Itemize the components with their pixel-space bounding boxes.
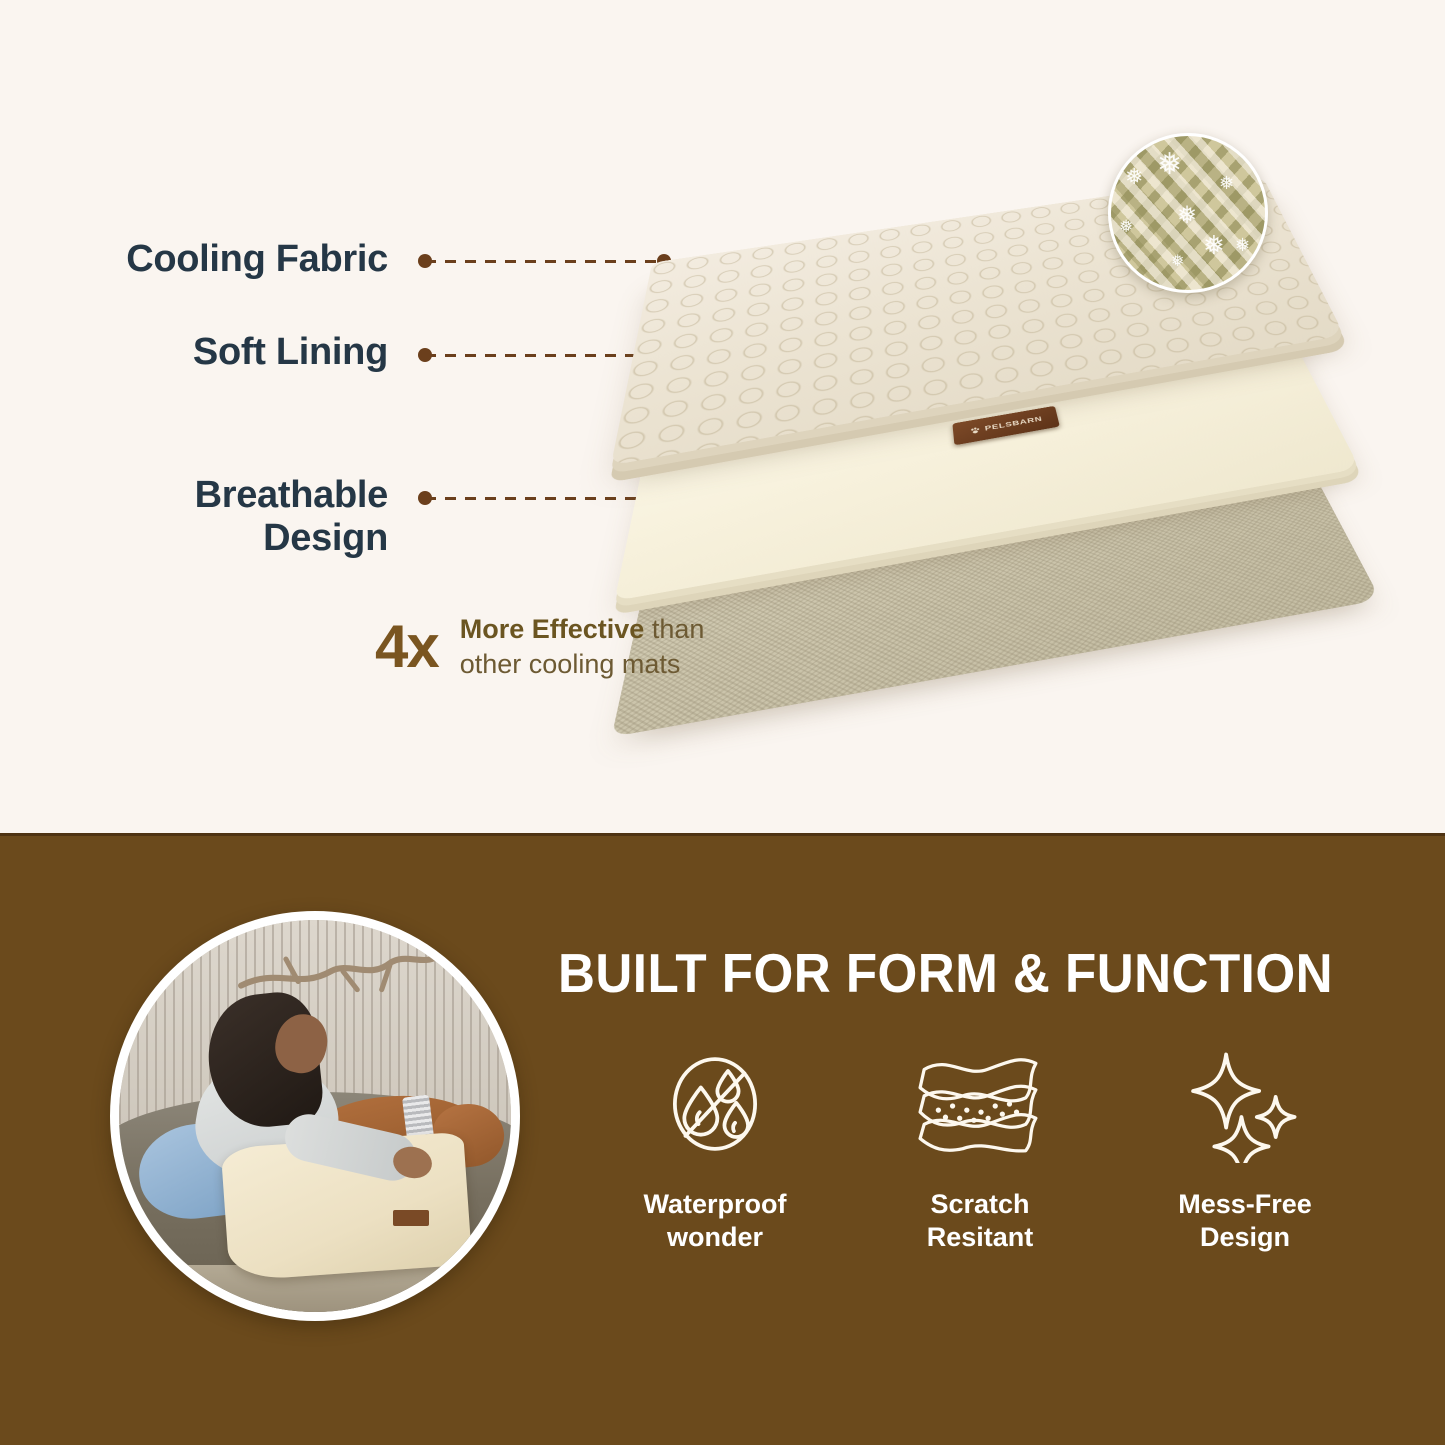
feature-mess-free: Mess-Free Design: [1130, 1041, 1360, 1254]
section-heading: BUILT FOR FORM & FUNCTION: [558, 941, 1333, 1005]
feature-icon-row: Waterproof wonder: [600, 1041, 1360, 1254]
snowflake-icon: ❅: [1171, 254, 1184, 270]
lifestyle-photo-content: [119, 920, 511, 1312]
feature-label-waterproof: Waterproof wonder: [644, 1188, 787, 1254]
snowflake-icon: ❅: [1177, 204, 1197, 228]
exploded-product-layers-illustration: PELSBARN: [590, 120, 1410, 760]
snowflake-icon: ❅: [1235, 236, 1250, 254]
snowflake-icon: ❅: [1157, 150, 1182, 180]
waterproof-droplets-crossed-icon: [656, 1041, 774, 1166]
scratch-resistant-wavy-fabric-icon: [914, 1041, 1046, 1166]
feature-label-waterproof-line2: wonder: [644, 1221, 787, 1254]
snowflake-icon: ❅: [1219, 174, 1234, 192]
photo-mat-brand-tag: [393, 1210, 428, 1226]
fabric-weave-closeup-inset: ❅ ❅ ❅ ❅ ❅ ❅ ❅ ❅: [1108, 133, 1268, 293]
feature-label-mess-free-line1: Mess-Free: [1178, 1188, 1312, 1221]
feature-label-mess-free-line2: Design: [1178, 1221, 1312, 1254]
snowflake-icon: ❅: [1203, 232, 1225, 258]
mess-free-sparkles-icon: [1186, 1041, 1304, 1166]
claim-strong-text: More Effective: [460, 614, 645, 644]
claim-rest-text: than: [644, 614, 704, 644]
feature-label-mess-free: Mess-Free Design: [1178, 1188, 1312, 1254]
feature-label-waterproof-line1: Waterproof: [644, 1188, 787, 1221]
feature-label-cooling-fabric: Cooling Fabric: [0, 238, 400, 281]
feature-scratch-resistant: Scratch Resitant: [865, 1041, 1095, 1254]
feature-label-scratch-resistant-line1: Scratch: [927, 1188, 1034, 1221]
bottom-section-features: BUILT FOR FORM & FUNCTION Water: [0, 833, 1445, 1445]
feature-label-breathable-design-line2: Design: [0, 517, 388, 560]
feature-label-soft-lining: Soft Lining: [0, 331, 400, 374]
snowflake-icon: ❅: [1125, 166, 1143, 188]
feature-label-scratch-resistant-line2: Resitant: [927, 1221, 1034, 1254]
top-section-product-layers: Cooling Fabric Soft Lining Breathable De…: [0, 0, 1445, 833]
claim-line-2: other cooling mats: [460, 647, 705, 682]
product-infographic: Cooling Fabric Soft Lining Breathable De…: [0, 0, 1445, 1445]
feature-label-breathable-design: Breathable Design: [0, 474, 400, 559]
feature-label-breathable-design-line1: Breathable: [0, 474, 388, 517]
feature-waterproof: Waterproof wonder: [600, 1041, 830, 1254]
brand-label-text: PELSBARN: [984, 415, 1043, 432]
claim-line-1: More Effective than: [460, 612, 705, 647]
feature-label-scratch-resistant: Scratch Resitant: [927, 1188, 1034, 1254]
effectiveness-claim: 4x More Effective than other cooling mat…: [375, 612, 704, 681]
paw-icon: [969, 426, 982, 436]
snowflake-icon: ❅: [1119, 218, 1133, 235]
lifestyle-photo-circle: [110, 911, 520, 1321]
claim-multiplier: 4x: [375, 617, 438, 677]
claim-text: More Effective than other cooling mats: [460, 612, 705, 681]
